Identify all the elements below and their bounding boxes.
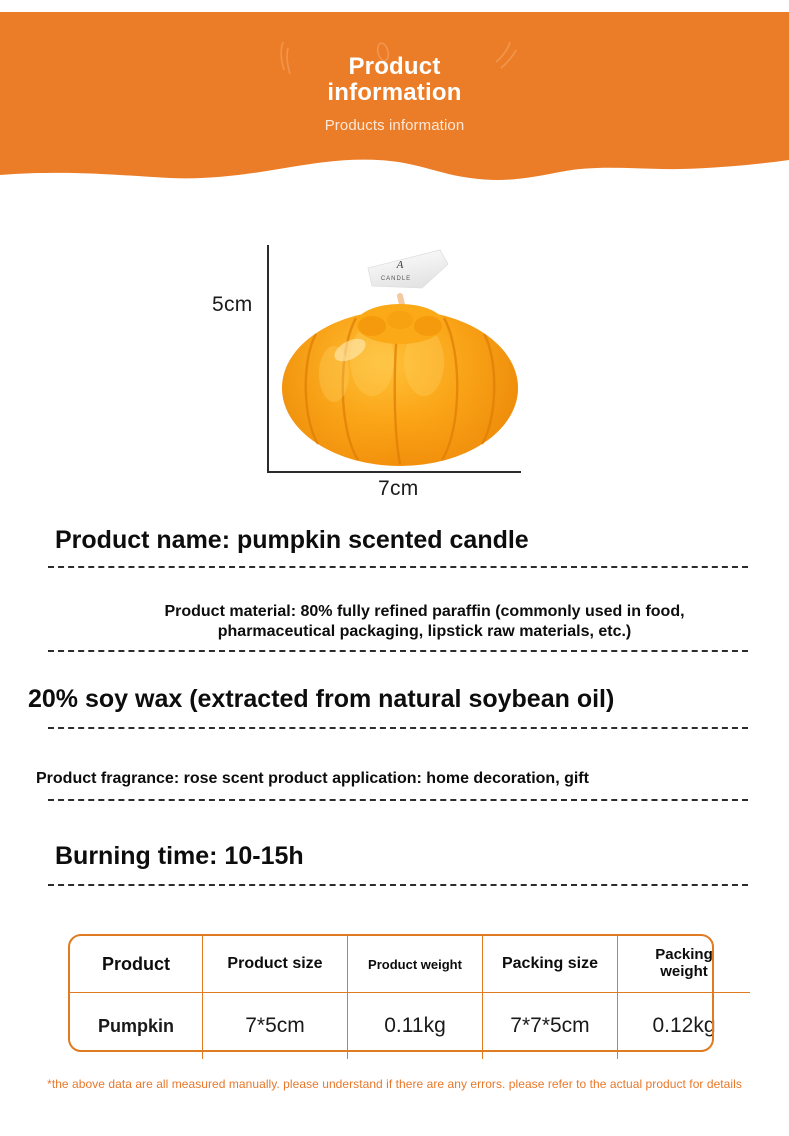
banner-text-group: Product information Products information bbox=[0, 12, 789, 162]
dimension-label-height: 5cm bbox=[212, 293, 253, 317]
spec-product-material-line1: Product material: 80% fully refined para… bbox=[30, 602, 789, 622]
spec-soy-wax: 20% soy wax (extracted from natural soyb… bbox=[0, 684, 789, 714]
divider-3 bbox=[48, 727, 748, 729]
cell-packing-weight: 0.12kg bbox=[618, 993, 752, 1061]
table-header-product-size: Product size bbox=[203, 935, 348, 993]
table-header-product: Product bbox=[69, 935, 203, 993]
banner-title: Product information bbox=[327, 54, 461, 106]
spec-product-name-text: Product name: pumpkin scented candle bbox=[55, 525, 789, 555]
packing-weight-line1: Packing bbox=[655, 946, 713, 963]
candle-hang-tag: A CANDLE bbox=[368, 250, 448, 288]
spec-soy-wax-text: 20% soy wax (extracted from natural soyb… bbox=[28, 684, 789, 714]
cell-product-weight: 0.11kg bbox=[348, 993, 483, 1061]
spec-burning-time: Burning time: 10-15h bbox=[0, 841, 789, 871]
dimension-label-width: 7cm bbox=[378, 477, 419, 501]
table-row: Pumpkin 7*5cm 0.11kg 7*7*5cm 0.12kg bbox=[69, 993, 751, 1061]
packing-weight-line2: weight bbox=[660, 963, 708, 980]
dimension-line-horizontal bbox=[267, 471, 521, 473]
specification-table: Product Product size Product weight Pack… bbox=[68, 934, 714, 1052]
spec-burning-time-text: Burning time: 10-15h bbox=[55, 841, 789, 871]
table-header-row: Product Product size Product weight Pack… bbox=[69, 935, 751, 993]
divider-4 bbox=[48, 799, 748, 801]
pumpkin-candle-image: A CANDLE bbox=[272, 238, 530, 470]
spec-product-material-line2: pharmaceutical packaging, lipstick raw m… bbox=[30, 622, 789, 642]
svg-text:A: A bbox=[396, 259, 404, 271]
divider-5 bbox=[48, 884, 748, 886]
spec-product-material: Product material: 80% fully refined para… bbox=[0, 602, 789, 643]
banner-subtitle: Products information bbox=[325, 117, 465, 134]
spec-product-name: Product name: pumpkin scented candle bbox=[0, 525, 789, 555]
spec-fragrance: Product fragrance: rose scent product ap… bbox=[0, 769, 789, 789]
table-header-packing-weight: Packing weight bbox=[618, 935, 752, 993]
svg-text:CANDLE: CANDLE bbox=[381, 276, 411, 282]
banner-title-line1: Product bbox=[348, 53, 440, 80]
divider-1 bbox=[48, 566, 748, 568]
measurement-disclaimer: *the above data are all measured manuall… bbox=[0, 1077, 789, 1091]
spec-table-element: Product Product size Product weight Pack… bbox=[68, 934, 752, 1061]
dimension-line-vertical bbox=[267, 245, 269, 473]
page-header-banner: Product information Products information bbox=[0, 12, 789, 187]
cell-product-size: 7*5cm bbox=[203, 993, 348, 1061]
cell-packing-size: 7*7*5cm bbox=[483, 993, 618, 1061]
table-header-product-weight: Product weight bbox=[348, 935, 483, 993]
cell-product-name: Pumpkin bbox=[69, 993, 203, 1061]
table-header-packing-size: Packing size bbox=[483, 935, 618, 993]
banner-title-line2: information bbox=[327, 79, 461, 106]
divider-2 bbox=[48, 650, 748, 652]
spec-fragrance-text: Product fragrance: rose scent product ap… bbox=[36, 769, 789, 789]
